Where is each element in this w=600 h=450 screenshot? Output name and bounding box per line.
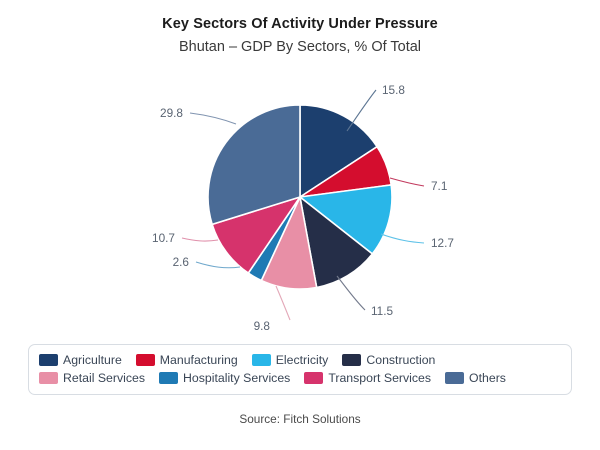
pie-chart-plot-area: 15.8 7.1 12.7 11.5 9.8 2.6 10.7 29.8: [0, 62, 600, 332]
pie-slices: [208, 105, 392, 289]
legend-item-others[interactable]: Others: [445, 371, 506, 385]
legend-swatch-icon-transport-services: [304, 372, 323, 384]
chart-legend: Agriculture Manufacturing Electricity Co…: [28, 344, 572, 395]
legend-swatch-icon-manufacturing: [136, 354, 155, 366]
legend-label-manufacturing: Manufacturing: [160, 353, 238, 367]
leader-line-manufacturing: [390, 178, 424, 186]
legend-label-electricity: Electricity: [276, 353, 329, 367]
pie-chart-svg: 15.8 7.1 12.7 11.5 9.8 2.6 10.7 29.8: [0, 62, 600, 332]
data-label-hospitality-services: 2.6: [173, 255, 190, 269]
data-label-retail-services: 9.8: [254, 319, 271, 332]
legend-item-hospitality-services[interactable]: Hospitality Services: [159, 371, 290, 385]
data-label-agriculture: 15.8: [382, 83, 405, 97]
legend-item-agriculture[interactable]: Agriculture: [39, 353, 122, 367]
chart-subtitle: Bhutan – GDP By Sectors, % Of Total: [0, 36, 600, 58]
legend-row-2: Retail Services Hospitality Services Tra…: [39, 369, 563, 387]
chart-card: Key Sectors Of Activity Under Pressure B…: [0, 0, 600, 450]
legend-swatch-icon-others: [445, 372, 464, 384]
legend-label-transport-services: Transport Services: [328, 371, 431, 385]
legend-label-agriculture: Agriculture: [63, 353, 122, 367]
leader-line-transport-services: [182, 238, 218, 241]
leader-line-hospitality-services: [196, 262, 240, 268]
legend-item-manufacturing[interactable]: Manufacturing: [136, 353, 238, 367]
legend-row-1: Agriculture Manufacturing Electricity Co…: [39, 351, 563, 369]
legend-swatch-icon-hospitality-services: [159, 372, 178, 384]
data-label-transport-services: 10.7: [152, 231, 175, 245]
leader-line-electricity: [381, 234, 424, 243]
legend-swatch-icon-retail-services: [39, 372, 58, 384]
legend-label-construction: Construction: [366, 353, 435, 367]
leader-line-construction: [337, 276, 365, 310]
legend-item-transport-services[interactable]: Transport Services: [304, 371, 431, 385]
legend-item-electricity[interactable]: Electricity: [252, 353, 329, 367]
legend-swatch-icon-electricity: [252, 354, 271, 366]
legend-item-retail-services[interactable]: Retail Services: [39, 371, 145, 385]
legend-label-hospitality-services: Hospitality Services: [183, 371, 290, 385]
legend-swatch-icon-construction: [342, 354, 361, 366]
chart-header: Key Sectors Of Activity Under Pressure B…: [0, 14, 600, 58]
source-caption: Source: Fitch Solutions: [0, 412, 600, 426]
legend-label-others: Others: [469, 371, 506, 385]
leader-line-agriculture: [347, 90, 376, 131]
data-label-manufacturing: 7.1: [431, 179, 447, 193]
leader-line-others: [190, 113, 236, 124]
leader-line-retail-services: [276, 286, 290, 320]
data-label-electricity: 12.7: [431, 236, 454, 250]
page-title: Key Sectors Of Activity Under Pressure: [0, 14, 600, 34]
legend-label-retail-services: Retail Services: [63, 371, 145, 385]
legend-item-construction[interactable]: Construction: [342, 353, 435, 367]
data-label-construction: 11.5: [371, 304, 394, 318]
data-label-others: 29.8: [160, 106, 183, 120]
legend-swatch-icon-agriculture: [39, 354, 58, 366]
